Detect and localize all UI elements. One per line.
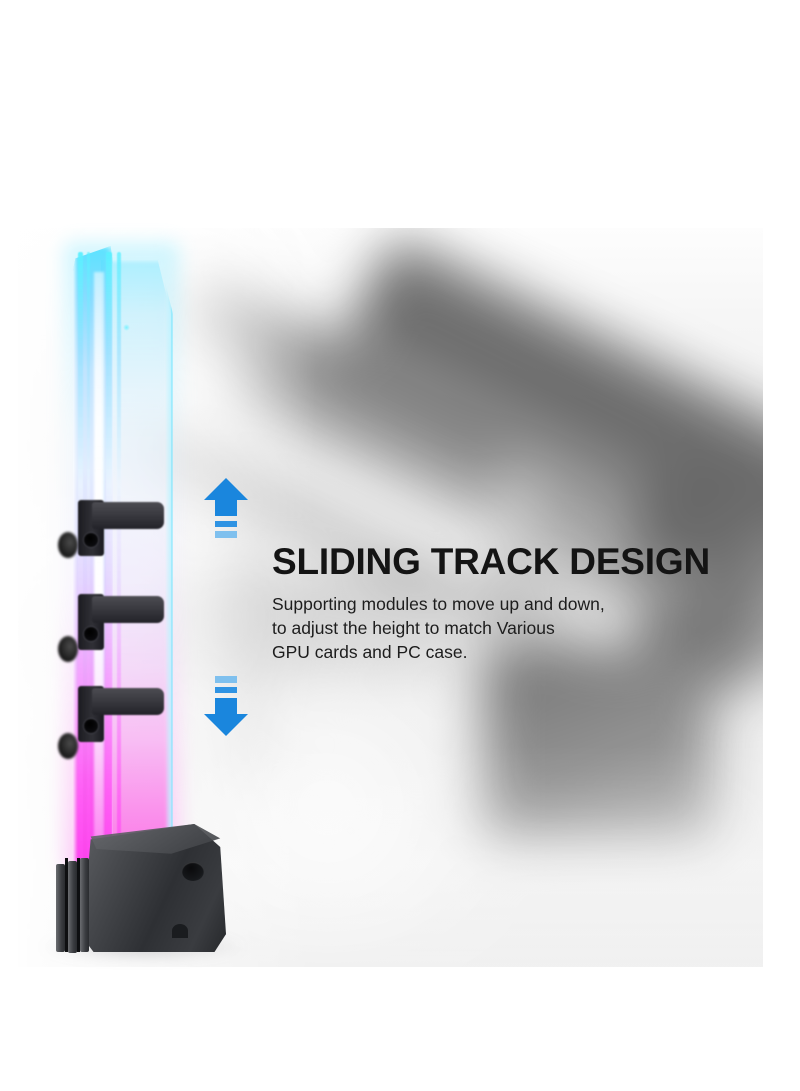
page-canvas: SLIDING TRACK DESIGN Supporting modules … [0, 0, 800, 1091]
description-text: Supporting modules to move up and down, … [272, 592, 605, 665]
arrow-up-icon [204, 478, 248, 540]
page-title: SLIDING TRACK DESIGN [272, 540, 710, 583]
arrow-down-icon [204, 674, 248, 736]
